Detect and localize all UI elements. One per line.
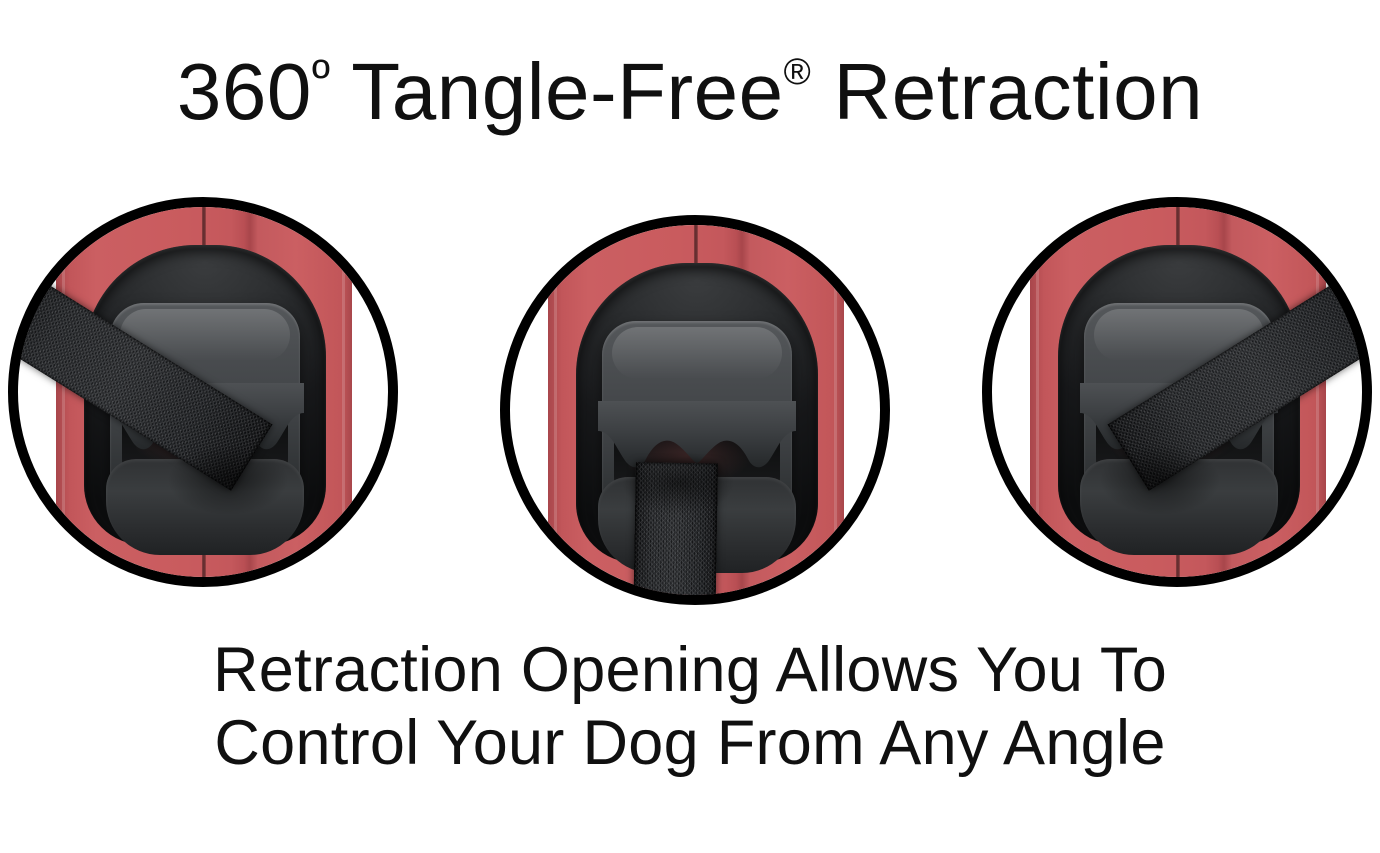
housing-edge-highlight: [834, 225, 837, 595]
housing-edge-highlight: [554, 225, 557, 595]
product-photo-3: [982, 197, 1372, 587]
leash-strap: [632, 462, 718, 595]
page-title-prefix: 360: [177, 47, 312, 136]
degree-symbol: º: [312, 49, 330, 105]
product-photo-row: [0, 195, 1380, 595]
housing-edge-highlight: [1316, 207, 1319, 577]
strap-edge-shading: [632, 462, 718, 595]
product-photo-1: [8, 197, 398, 587]
caption-line-2: Control Your Dog From Any Angle: [0, 707, 1380, 780]
product-photo-2: [500, 215, 890, 605]
caption-block: Retraction Opening Allows You To Control…: [0, 634, 1380, 780]
mechanism-skirt: [1080, 459, 1278, 555]
guide-top-highlight: [612, 327, 782, 379]
caption-line-1: Retraction Opening Allows You To: [0, 634, 1380, 707]
page-title-middle: Tangle-Free: [330, 47, 784, 136]
leash-scene-2: [510, 225, 880, 595]
housing-edge-highlight: [62, 207, 65, 577]
leash-scene-1: [18, 207, 388, 577]
housing-edge-highlight: [1036, 207, 1039, 577]
housing-edge-highlight: [342, 207, 345, 577]
leash-scene-3: [992, 207, 1362, 577]
registered-trademark-symbol: ®: [784, 51, 811, 92]
page-title: 360º Tangle-Free® Retraction: [0, 52, 1380, 132]
page-title-suffix: Retraction: [811, 47, 1203, 136]
